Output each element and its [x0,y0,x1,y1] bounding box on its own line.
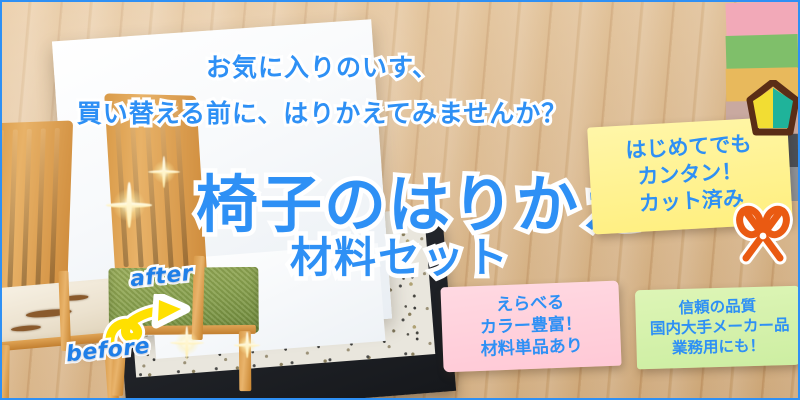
scissors-icon [726,200,800,274]
badge-color-line-3: 材料単品あり [456,335,607,362]
badge-quality-line-2: 国内大手メーカー品 [650,316,787,340]
lead-line-1: お気に入りのいす、 [2,48,642,84]
fabric-swatch-stack-item [726,34,799,70]
badge-quality-assurance: 信頼の品質 国内大手メーカー品 業務用にも！ [635,286,800,370]
lead-copy: お気に入りのいす、 買い替える前に、はりかえてみませんか？ [2,48,642,130]
page-subtitle: 材料セット [290,224,510,285]
promo-banner: before after お気に入りのいす、 買い替える前に、はりかえてみません… [0,0,800,400]
fabric-swatch-stack-item [725,1,798,37]
lead-line-2: 買い替える前に、はりかえてみませんか？ [2,94,642,130]
sparkle-icon [106,182,152,228]
chair-before-backrest [0,120,73,295]
badge-color-variety: えらべる カラー豊富！ 材料単品あり [440,281,621,373]
badge-quality-line-3: 業務用にも！ [650,336,787,360]
sparkle-icon [234,332,260,358]
beginner-leaf-mark-icon [746,80,800,136]
sparkle-icon [148,156,180,188]
